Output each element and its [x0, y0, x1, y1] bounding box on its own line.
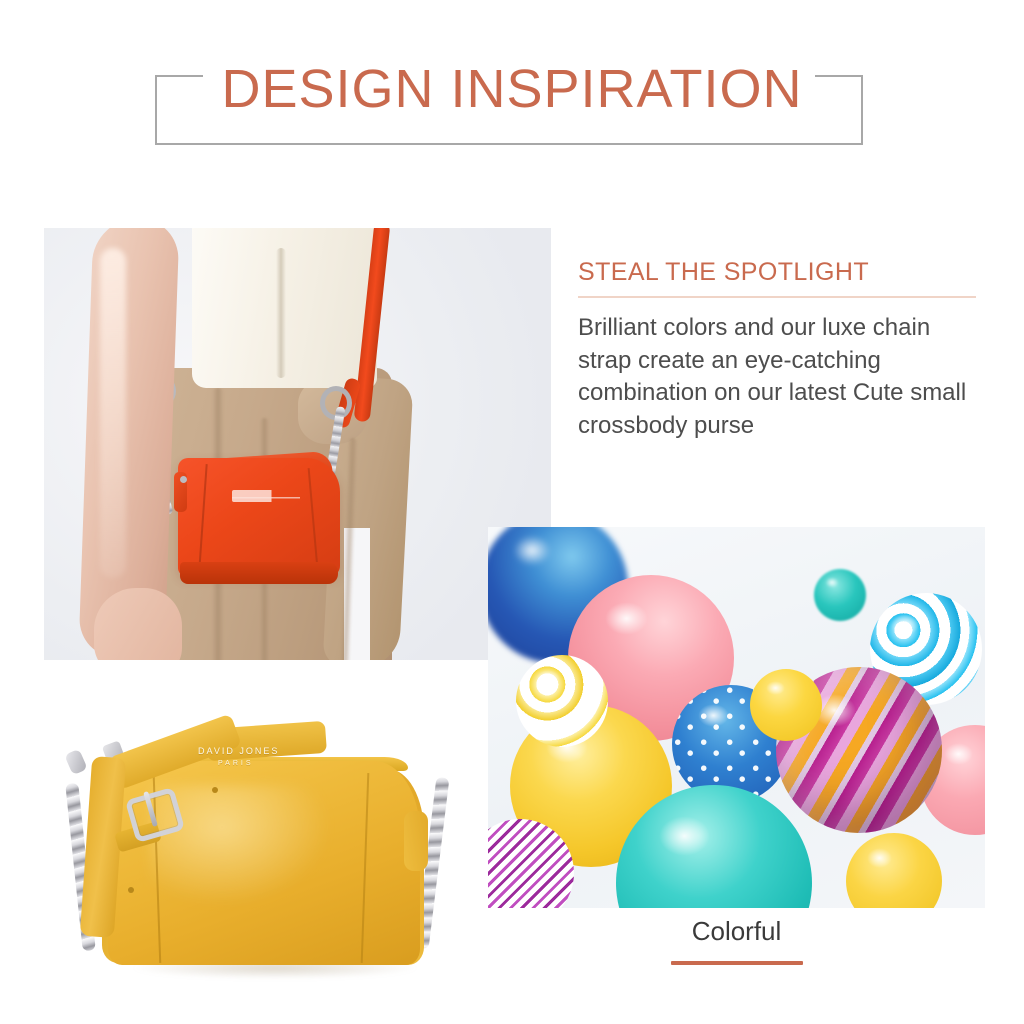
model-blouse-fold — [276, 248, 286, 378]
orange-bag-logo-emboss — [232, 490, 300, 502]
copy-body-text: Brilliant colors and our luxe chain stra… — [578, 312, 982, 443]
bag-brand-emboss: DAVID JONES — [198, 746, 279, 756]
colorful-spheres-photo — [488, 527, 985, 908]
bag-strap-hole — [128, 887, 134, 893]
bag-chain-end-left — [64, 749, 88, 776]
sphere-yellow-bottom-right — [846, 833, 942, 908]
bag-strap-loop-right — [404, 811, 428, 871]
bag-strap-hole — [212, 787, 218, 793]
model-hand — [94, 588, 182, 660]
header-band: DESIGN INSPIRATION — [0, 0, 1024, 200]
orange-bag-stud — [180, 476, 187, 483]
copy-divider — [578, 296, 976, 298]
product-photo-yellow-bag — [30, 665, 490, 1005]
caption-block: Colorful — [488, 916, 985, 965]
orange-bag-base — [180, 562, 338, 584]
copy-heading: STEAL THE SPOTLIGHT — [578, 258, 982, 287]
sphere-yellow-white-striped — [516, 655, 608, 747]
page-title: DESIGN INSPIRATION — [0, 58, 1024, 120]
caption-label: Colorful — [488, 916, 985, 947]
caption-underline — [671, 961, 803, 965]
bag-brand-sub-emboss: PARIS — [218, 760, 254, 767]
sphere-yellow-mid — [750, 669, 822, 741]
model-photo — [44, 228, 551, 660]
copy-block: STEAL THE SPOTLIGHT Brilliant colors and… — [578, 258, 982, 443]
model-arm-highlight — [100, 248, 126, 578]
sphere-teal-small — [814, 569, 866, 621]
